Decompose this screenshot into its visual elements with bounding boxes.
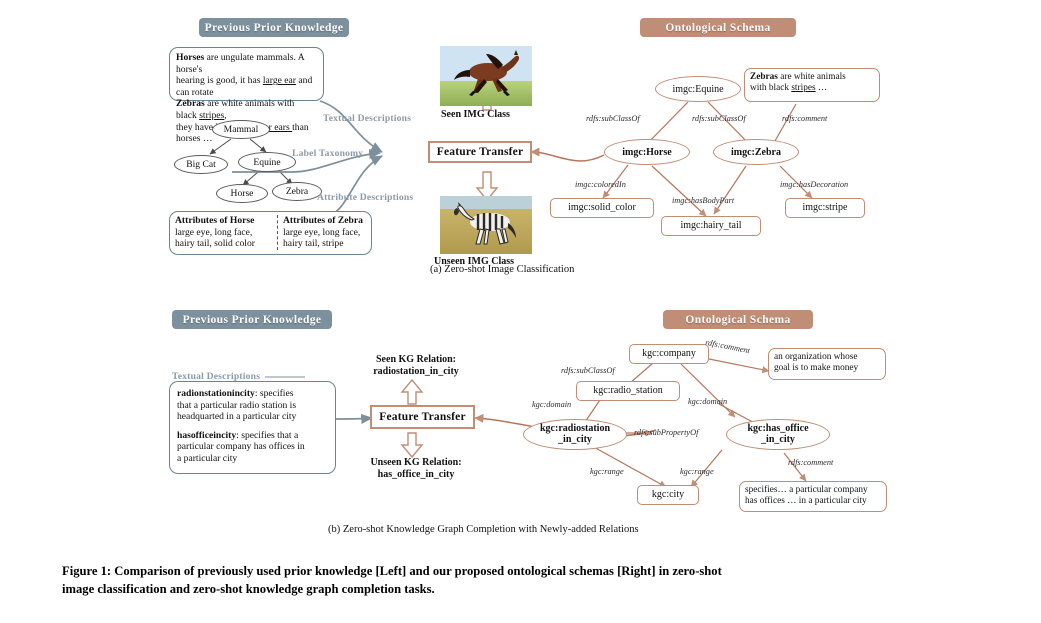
- figure-root: Previous Prior Knowledge Ontological Sch…: [0, 0, 1041, 623]
- cmt-zebras-rest: are white animals: [778, 72, 846, 82]
- attr-zebra-l2: hairy tail, stripe: [283, 238, 363, 250]
- td-stripes: stripes: [199, 110, 224, 121]
- edge-label-a-comment: rdfs:comment: [782, 114, 827, 123]
- td-l4a: they have: [176, 122, 215, 133]
- attr-zebra-header: Attributes of Zebra: [283, 215, 363, 227]
- schema-leaf-stripe: imgc:stripe: [785, 198, 865, 218]
- schema-leaf-hairy-tail: imgc:hairy_tail: [661, 216, 761, 236]
- schema-comment-zebras: Zebras are white animals with black stri…: [744, 68, 880, 102]
- kg-node-radiostation-in-city: kgc:radiostation _in_city: [523, 419, 627, 450]
- edge-label-a-hasbodypart: imgc:hasBodyPart: [672, 196, 734, 205]
- zebra-illustration: [440, 196, 532, 254]
- cmt-zebras-bold: Zebras: [750, 72, 778, 82]
- edge-label-b-comment-office: rdfs:comment: [788, 458, 833, 467]
- taxonomy-node-mammal: Mammal: [212, 120, 270, 139]
- kg-comment-office-l1: specifies… a particular company: [745, 485, 881, 496]
- taxonomy-node-equine: Equine: [238, 152, 296, 172]
- taxonomy-node-zebra: Zebra: [272, 182, 322, 201]
- seen-image-horse-photo: [440, 46, 532, 106]
- feature-transfer-box-b: Feature Transfer: [370, 405, 475, 429]
- panel-a-attributes-box: Attributes of Horse large eye, long face…: [169, 211, 372, 255]
- edge-label-b-comment-company: rdfs:comment: [705, 338, 751, 355]
- kg-td1-l2: that a particular radio station is: [177, 400, 328, 412]
- attr-horse-header: Attributes of Horse: [175, 215, 273, 227]
- td-l3tail: ,: [224, 110, 226, 121]
- edge-label-a-subclassof-2: rdfs:subClassOf: [692, 114, 746, 123]
- edge-label-b-domain-1: kgc:domain: [532, 400, 571, 409]
- kg-radiostation-l1: kgc:radiostation: [540, 424, 610, 435]
- kg-node-has-office-in-city: kgc:has_office _in_city: [726, 419, 830, 450]
- kg-td1-bold: radionstationincity: [177, 388, 255, 399]
- kg-comment-company: an organization whose goal is to make mo…: [768, 348, 886, 380]
- panel-a-left-badge: Previous Prior Knowledge: [199, 18, 349, 37]
- edge-label-b-range-2: kgc:range: [680, 467, 714, 476]
- arrow-label-label-taxonomy: Label Taxonomy: [292, 148, 363, 159]
- figure-caption-line2: image classification and zero-shot knowl…: [62, 580, 982, 598]
- td-large-ear: large ear: [263, 75, 296, 86]
- td-horses-bold: Horses: [176, 52, 204, 63]
- edge-label-b-subclassof: rdfs:subClassOf: [561, 366, 615, 375]
- kg-node-city: kgc:city: [637, 485, 699, 505]
- panel-a-subcaption: (a) Zero-shot Image Classification: [430, 264, 574, 275]
- kg-td2-bold: hasofficeincity: [177, 430, 236, 441]
- kg-node-radio-station: kgc:radio_station: [576, 381, 680, 401]
- kg-prior-arrow: [336, 418, 372, 419]
- kg-td1-a: : specifies: [255, 388, 294, 399]
- panel-a-right-badge: Ontological Schema: [640, 18, 796, 37]
- schema-node-imgc-horse: imgc:Horse: [604, 139, 690, 165]
- kg-comment-office-l2: has offices … in a particular city: [745, 496, 881, 507]
- kg-td1-l3: headquarted in a particular city: [177, 411, 328, 423]
- kg-node-company: kgc:company: [629, 344, 709, 364]
- attr-horse-l1: large eye, long face,: [175, 227, 273, 239]
- unseen-kg-relation-line1: Unseen KG Relation:: [341, 457, 491, 469]
- horse-illustration: [440, 46, 532, 106]
- schema-node-imgc-zebra: imgc:Zebra: [713, 139, 799, 165]
- kg-hasoffice-l2: _in_city: [761, 435, 795, 446]
- panel-b-subcaption: (b) Zero-shot Knowledge Graph Completion…: [328, 524, 639, 535]
- kg-radiostation-l2: _in_city: [558, 435, 592, 446]
- arrow-label-attribute-descriptions: Attribute Descriptions: [317, 192, 413, 203]
- edge-label-b-subpropertyof: rdfs:subPropertyOf: [634, 428, 698, 437]
- td-zebras-bold: Zebras: [176, 98, 205, 109]
- unseen-kg-relation-line2: has_office_in_city: [341, 469, 491, 481]
- kg-comment-company-l1: an organization whose: [774, 352, 880, 363]
- edge-label-a-hasdecoration: imgc:hasDecoration: [780, 180, 848, 189]
- panel-a-textual-descriptions-box: Horses are ungulate mammals. A horse's h…: [169, 47, 324, 101]
- td-l2a: hearing is good, it has: [176, 75, 263, 86]
- taxonomy-node-horse: Horse: [216, 184, 268, 203]
- panel-b-textual-descriptions-box: radionstationincity: specifies that a pa…: [169, 381, 336, 474]
- feature-transfer-box-a: Feature Transfer: [428, 141, 532, 163]
- taxonomy-node-big-cat: Big Cat: [174, 155, 228, 174]
- kg-comment-company-l2: goal is to make money: [774, 363, 880, 374]
- figure-caption-line1: Figure 1: Comparison of previously used …: [62, 562, 982, 580]
- cmt-zebras-l2b: …: [816, 83, 828, 93]
- kg-td2-l2: particular company has offices in: [177, 441, 328, 453]
- kg-td2-a: : specifies that a: [236, 430, 298, 441]
- edge-label-b-domain-2: kgc:domain: [688, 397, 727, 406]
- schema-leaf-solid-color: imgc:solid_color: [550, 198, 654, 218]
- attr-zebra-l1: large eye, long face,: [283, 227, 363, 239]
- cmt-zebras-l2a: with black: [750, 83, 791, 93]
- seen-kg-relation-line2: radiostation_in_city: [341, 366, 491, 378]
- seen-kg-relation-line1: Seen KG Relation:: [341, 354, 491, 366]
- schema-node-imgc-equine: imgc:Equine: [655, 76, 741, 102]
- figure-caption: Figure 1: Comparison of previously used …: [62, 562, 982, 598]
- seen-img-class-label: Seen IMG Class: [441, 109, 510, 120]
- edge-label-a-subclassof-1: rdfs:subClassOf: [586, 114, 640, 123]
- edge-label-a-coloredin: imgc:coloredIn: [575, 180, 626, 189]
- kg-hasoffice-l1: kgc:has_office: [747, 424, 808, 435]
- attr-horse-l2: hairy tail, solid color: [175, 238, 273, 250]
- kg-comment-has-office: specifies… a particular company has offi…: [739, 481, 887, 512]
- cmt-zebras-stripes: stripes: [791, 83, 815, 93]
- unseen-image-zebra-photo: [440, 196, 532, 254]
- panel-b-left-badge: Previous Prior Knowledge: [172, 310, 332, 329]
- schema-to-transfer-arrow-a: [531, 152, 604, 161]
- panel-b-right-badge: Ontological Schema: [663, 310, 813, 329]
- kg-td2-l3: a particular city: [177, 453, 328, 465]
- arrow-label-textual-descriptions: Textual Descriptions: [323, 113, 411, 124]
- edge-label-b-range-1: kgc:range: [590, 467, 624, 476]
